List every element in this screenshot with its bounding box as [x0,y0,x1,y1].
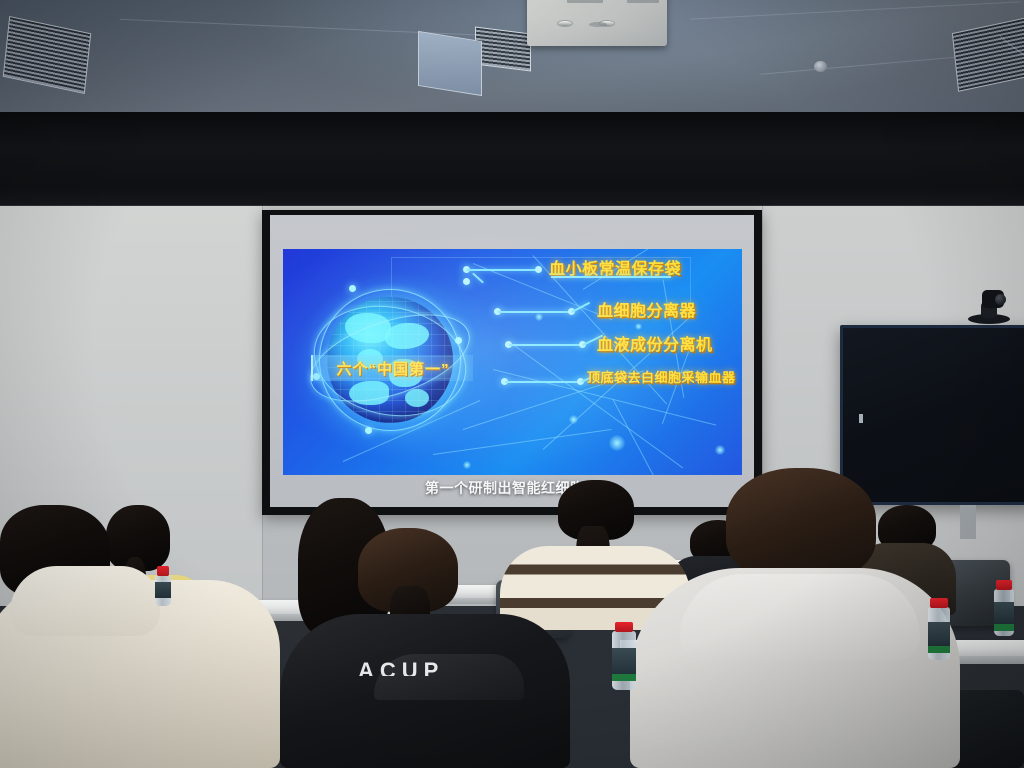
classroom-photo-scene: 六个“中国第一” 血小板常温保存袋 血细胞分离器 血液成份分离机 顶底袋去白细胞… [0,0,1024,768]
camera-lens-icon [995,294,1006,305]
connector-line [467,269,537,271]
ptz-conference-camera [968,288,1010,326]
student-gray-hoodie-foreground [630,468,960,768]
display-power-led-icon [859,414,863,423]
jacket-logo-text: ACUP [358,658,498,676]
orbit-node [365,427,372,434]
connector-node [535,266,542,273]
connector-line [505,381,579,383]
presentation-slide: 六个“中国第一” 血小板常温保存袋 血细胞分离器 血液成份分离机 顶底袋去白细胞… [283,249,742,475]
student-front-left-cream-hoodie [0,556,280,768]
ceiling-projector [527,0,667,46]
slide-bullet-2: 血细胞分离器 [597,297,696,321]
connector-line [498,311,570,313]
connector-line [509,344,581,346]
water-bottle-right [928,598,950,660]
slide-bullet-1-underline [551,276,671,278]
ceiling-sensor-icon [814,61,827,72]
orbit-node [349,285,356,292]
ceiling-vent-center-icon [475,27,531,72]
globe-graphic: 六个“中国第一” [305,277,475,447]
slide-bullet-3: 血液成份分离机 [597,331,713,355]
slide-bullet-4: 顶底袋去白细胞采输血器 [587,367,736,386]
ceiling-access-panel [418,31,482,96]
orbit-node [455,337,462,344]
globe-caption-text: 六个“中国第一” [336,358,449,379]
student-black-jacket-logo: ACUP [280,528,570,768]
water-bottle-left [155,566,171,606]
connector-node [463,278,470,285]
water-bottle-far-right [994,580,1014,636]
globe-caption: 六个“中国第一” [311,355,473,381]
dark-ceiling-beam [0,112,1024,212]
water-bottle-center [612,622,636,690]
display-mount [960,505,976,539]
